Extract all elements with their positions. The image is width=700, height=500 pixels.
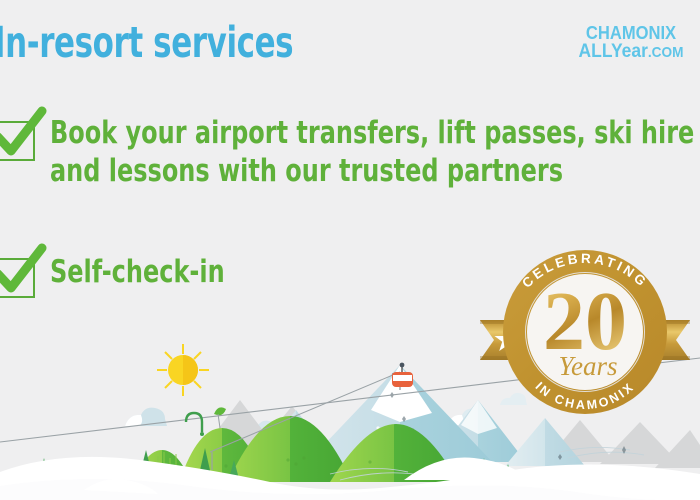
logo-all: ALL bbox=[579, 41, 611, 62]
service-bullet-2: Self-check-in bbox=[0, 250, 253, 300]
green-checkmark-icon bbox=[0, 254, 38, 300]
service-bullet-1-label: Book your airport transfers, lift passes… bbox=[50, 115, 694, 191]
badge-script-word: Years bbox=[558, 351, 617, 381]
site-logo[interactable]: CHAMONIX ALLYear.COM bbox=[574, 24, 688, 62]
poster-canvas: In-resort services CHAMONIX ALLYear.COM … bbox=[0, 0, 700, 500]
logo-line-allyear: ALLYear.COM bbox=[579, 42, 684, 61]
green-checkmark-icon bbox=[0, 117, 38, 163]
logo-line-chamonix: CHAMONIX bbox=[579, 24, 684, 42]
logo-dotcom: .COM bbox=[648, 45, 684, 61]
service-bullet-2-label: Self-check-in bbox=[50, 254, 225, 292]
anniversary-badge: CELEBRATING IN CHAMONIX 20 Years bbox=[480, 232, 690, 432]
service-bullet-1: Book your airport transfers, lift passes… bbox=[0, 113, 700, 191]
page-title: In-resort services bbox=[0, 22, 293, 65]
logo-year: Year bbox=[611, 41, 648, 62]
